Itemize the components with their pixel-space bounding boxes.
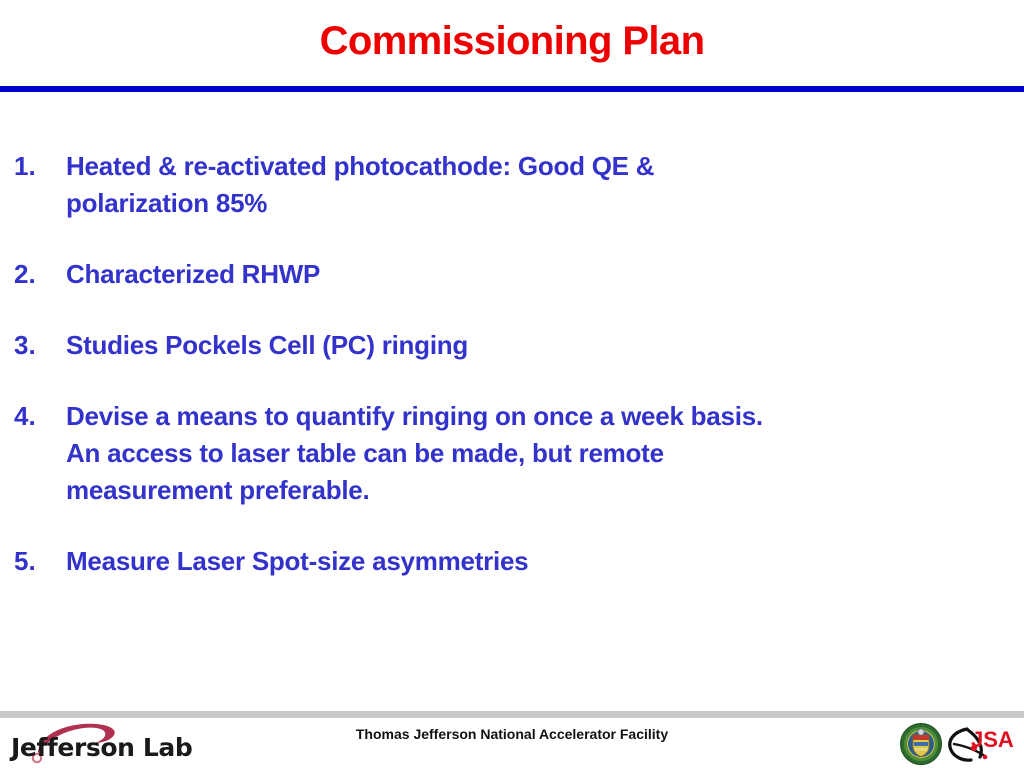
list-item-number: 2. (14, 256, 58, 293)
jefferson-lab-wordmark: Jefferson Lab (11, 734, 192, 762)
title-area: Commissioning Plan (0, 18, 1024, 64)
doe-seal-icon (900, 723, 942, 765)
list-item-text: Heated & re-activated photocathode: Good… (66, 148, 1006, 222)
list-item: 3. Studies Pockels Cell (PC) ringing (0, 327, 1024, 364)
footer-separator-band (0, 711, 1024, 718)
list-item: 4. Devise a means to quantify ringing on… (0, 398, 1024, 509)
slide-footer: Jefferson Lab Thomas Jefferson National … (0, 718, 1024, 768)
list-item-text: Studies Pockels Cell (PC) ringing (66, 327, 1006, 364)
body-content-list: 1. Heated & re-activated photocathode: G… (0, 148, 1024, 580)
slide: Commissioning Plan 1. Heated & re-activa… (0, 0, 1024, 768)
list-item: 1. Heated & re-activated photocathode: G… (0, 148, 1024, 222)
list-item-number: 4. (14, 398, 58, 435)
list-item-text: Characterized RHWP (66, 256, 1006, 293)
list-item: 2. Characterized RHWP (0, 256, 1024, 293)
list-item-number: 5. (14, 543, 58, 580)
list-item: 5. Measure Laser Spot-size asymmetries (0, 543, 1024, 580)
list-item-text: Devise a means to quantify ringing on on… (66, 398, 1006, 509)
page-title: Commissioning Plan (320, 18, 705, 64)
title-divider-rule (0, 86, 1024, 92)
list-item-number: 1. (14, 148, 58, 185)
list-item-text: Measure Laser Spot-size asymmetries (66, 543, 1006, 580)
jsa-logo-icon: JSA (944, 724, 1016, 764)
list-item-number: 3. (14, 327, 58, 364)
jefferson-lab-logo: Jefferson Lab (8, 720, 208, 766)
jsa-wordmark: JSA (971, 727, 1014, 752)
footer-logo-group: JSA (900, 720, 1018, 766)
footer-facility-name: Thomas Jefferson National Accelerator Fa… (262, 725, 762, 743)
